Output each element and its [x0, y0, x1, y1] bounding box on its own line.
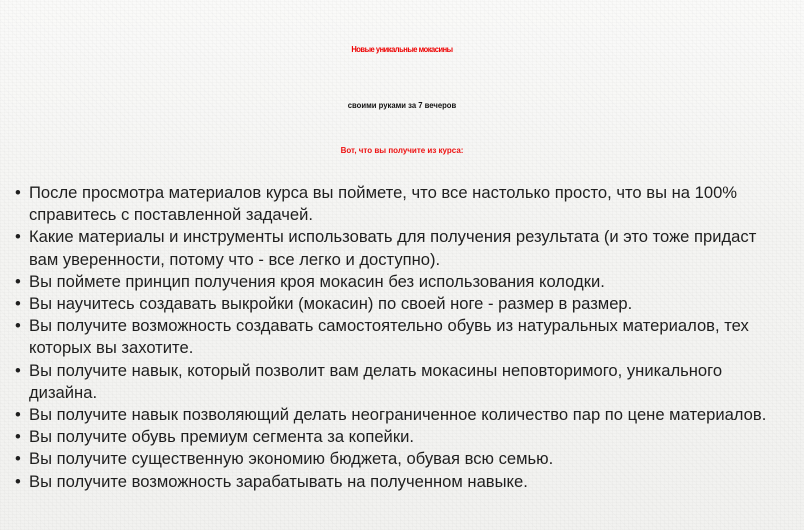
list-item: •Вы получите навык, который позволит вам… [14, 360, 788, 404]
bullet-icon: • [15, 448, 25, 470]
benefits-list: •После просмотра материалов курса вы пой… [0, 163, 804, 493]
list-item: •Вы получите обувь премиум сегмента за к… [14, 426, 788, 448]
list-item-label: Вы получите возможность зарабатывать на … [29, 471, 788, 493]
list-item: •Вы получите возможность зарабатывать на… [14, 471, 788, 493]
list-item-label: Какие материалы и инструменты использова… [29, 226, 788, 270]
list-item: •После просмотра материалов курса вы пой… [14, 182, 788, 226]
list-item-label: Вы поймете принцип получения кроя мокаси… [29, 271, 788, 293]
bullet-icon: • [15, 426, 25, 448]
page-subtitle: своими руками за 7 вечеров [16, 78, 788, 122]
list-item: •Вы получите существенную экономию бюдже… [14, 448, 788, 470]
list-item-label: Вы получите навык позволяющий делать нео… [29, 404, 788, 426]
bullet-icon: • [15, 271, 25, 293]
bullet-icon: • [15, 293, 25, 315]
bullet-icon: • [15, 315, 25, 337]
list-item: •Вы научитесь создавать выкройки (мокаси… [14, 293, 788, 315]
bullet-icon: • [15, 471, 25, 493]
list-item-label: После просмотра материалов курса вы пойм… [29, 182, 788, 226]
list-item: •Вы получите навык позволяющий делать не… [14, 404, 788, 426]
list-item-label: Вы получите существенную экономию бюджет… [29, 448, 788, 470]
bullet-icon: • [15, 360, 25, 382]
page-title: Новые уникальные мокасины [24, 0, 780, 78]
bullet-icon: • [15, 404, 25, 426]
list-item: •Какие материалы и инструменты использов… [14, 226, 788, 270]
list-item: •Вы получите возможность создавать самос… [14, 315, 788, 359]
promo-page: Новые уникальные мокасины своими руками … [0, 0, 804, 530]
list-item-label: Вы получите обувь премиум сегмента за ко… [29, 426, 788, 448]
list-item-label: Вы получите возможность создавать самост… [29, 315, 788, 359]
benefits-section-heading: Вот, что вы получите из курса: [0, 122, 804, 163]
list-item-label: Вы получите навык, который позволит вам … [29, 360, 788, 404]
list-item: •Вы поймете принцип получения кроя мокас… [14, 271, 788, 293]
list-item-label: Вы научитесь создавать выкройки (мокасин… [29, 293, 788, 315]
bullet-icon: • [15, 182, 25, 204]
bullet-icon: • [15, 226, 25, 248]
